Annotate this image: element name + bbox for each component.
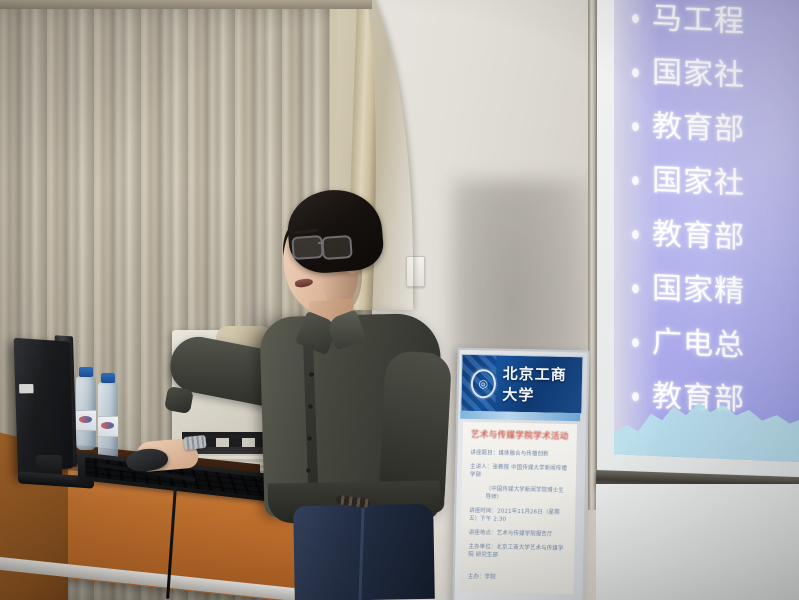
- shirt-cuff: [164, 386, 194, 414]
- photo-scene: 30 24 40·5 秒 4 24 2 24 马工程 国家社 教育部 国家社: [0, 0, 799, 600]
- eyeglasses-lens-left: [291, 235, 324, 260]
- presenter: [0, 0, 799, 600]
- shirt-button: [308, 404, 313, 409]
- eyeglasses-lens-right: [321, 235, 353, 260]
- wristwatch: [183, 435, 206, 450]
- shirt-button: [307, 436, 312, 441]
- shirt-button: [309, 372, 314, 377]
- shirt-button: [306, 468, 311, 473]
